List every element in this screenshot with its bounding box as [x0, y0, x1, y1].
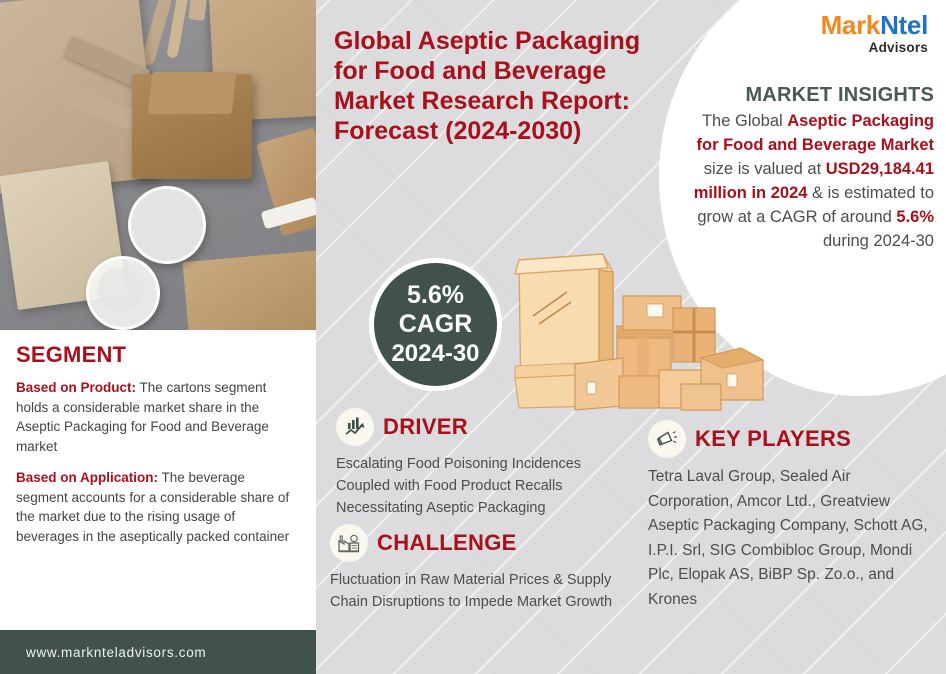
- market-insights-panel: MARKET INSIGHTS The Global Aseptic Packa…: [690, 84, 934, 253]
- key-players-text: Tetra Laval Group, Sealed Air Corporatio…: [648, 465, 938, 612]
- key-players-section: KEY PLAYERS Tetra Laval Group, Sealed Ai…: [648, 420, 938, 612]
- plastic-cup-a-inner: [140, 198, 188, 246]
- packaging-illustration: [495, 248, 765, 418]
- driver-text: Escalating Food Poisoning Incidences Cou…: [336, 453, 636, 519]
- footer-url-bar: www.marknteladvisors.com: [0, 630, 316, 674]
- growth-chart-icon: [336, 408, 374, 446]
- page-title: Global Aseptic Packaging for Food and Be…: [334, 26, 664, 146]
- brand-logo[interactable]: MarkNtel Advisors: [821, 12, 928, 55]
- segment-item-application: Based on Application: The beverage segme…: [16, 468, 300, 546]
- insights-text-1: The Global: [702, 112, 787, 130]
- kraft-bag-bottom: [183, 250, 316, 330]
- infographic-canvas: SEGMENT Based on Product: The cartons se…: [0, 0, 946, 674]
- segment-item-product: Based on Product: The cartons segment ho…: [16, 378, 300, 456]
- segment-heading: SEGMENT: [16, 342, 300, 368]
- logo-wordmark: MarkNtel: [821, 12, 928, 38]
- challenge-text: Fluctuation in Raw Material Prices & Sup…: [330, 569, 636, 613]
- insights-text-2: size is valued at: [704, 160, 826, 178]
- megaphone-glyph: [655, 427, 679, 451]
- growth-chart-glyph: [343, 415, 367, 439]
- boxes-svg: [495, 248, 765, 418]
- segment-item-application-label: Based on Application:: [16, 470, 158, 485]
- challenge-heading: CHALLENGE: [377, 530, 517, 556]
- driver-section: DRIVER Escalating Food Poisoning Inciden…: [336, 408, 636, 519]
- logo-subtitle: Advisors: [821, 41, 928, 55]
- key-players-header: KEY PLAYERS: [648, 420, 938, 458]
- takeaway-box-flap: [148, 72, 236, 114]
- megaphone-icon: [648, 420, 686, 458]
- market-insights-body: The Global Aseptic Packaging for Food an…: [690, 109, 934, 253]
- segment-section: SEGMENT Based on Product: The cartons se…: [0, 330, 316, 630]
- cagr-badge: 5.6% CAGR 2024-30: [369, 258, 502, 391]
- wooden-spoon: [188, 0, 207, 21]
- footer-url[interactable]: www.marknteladvisors.com: [0, 645, 206, 660]
- key-players-heading: KEY PLAYERS: [695, 426, 851, 452]
- logo-ntel-text: Ntel: [880, 10, 928, 40]
- cagr-value: 5.6%: [407, 281, 464, 310]
- segment-item-product-label: Based on Product:: [16, 380, 136, 395]
- challenge-header: CHALLENGE: [330, 524, 636, 562]
- market-insights-heading: MARKET INSIGHTS: [690, 84, 934, 107]
- insights-text-4: during 2024-30: [823, 232, 934, 250]
- factory-glyph: [337, 531, 361, 555]
- logo-mark-text: Mark: [821, 10, 881, 40]
- cagr-period: 2024-30: [391, 339, 479, 368]
- left-column: SEGMENT Based on Product: The cartons se…: [0, 0, 316, 674]
- cagr-label: CAGR: [399, 310, 473, 339]
- driver-header: DRIVER: [336, 408, 636, 446]
- packaging-photo: [0, 0, 316, 330]
- factory-icon: [330, 524, 368, 562]
- insights-highlight-3: 5.6%: [896, 208, 934, 226]
- driver-heading: DRIVER: [383, 414, 468, 440]
- plastic-cup-b-inner: [97, 267, 143, 313]
- challenge-section: CHALLENGE Fluctuation in Raw Material Pr…: [330, 524, 636, 613]
